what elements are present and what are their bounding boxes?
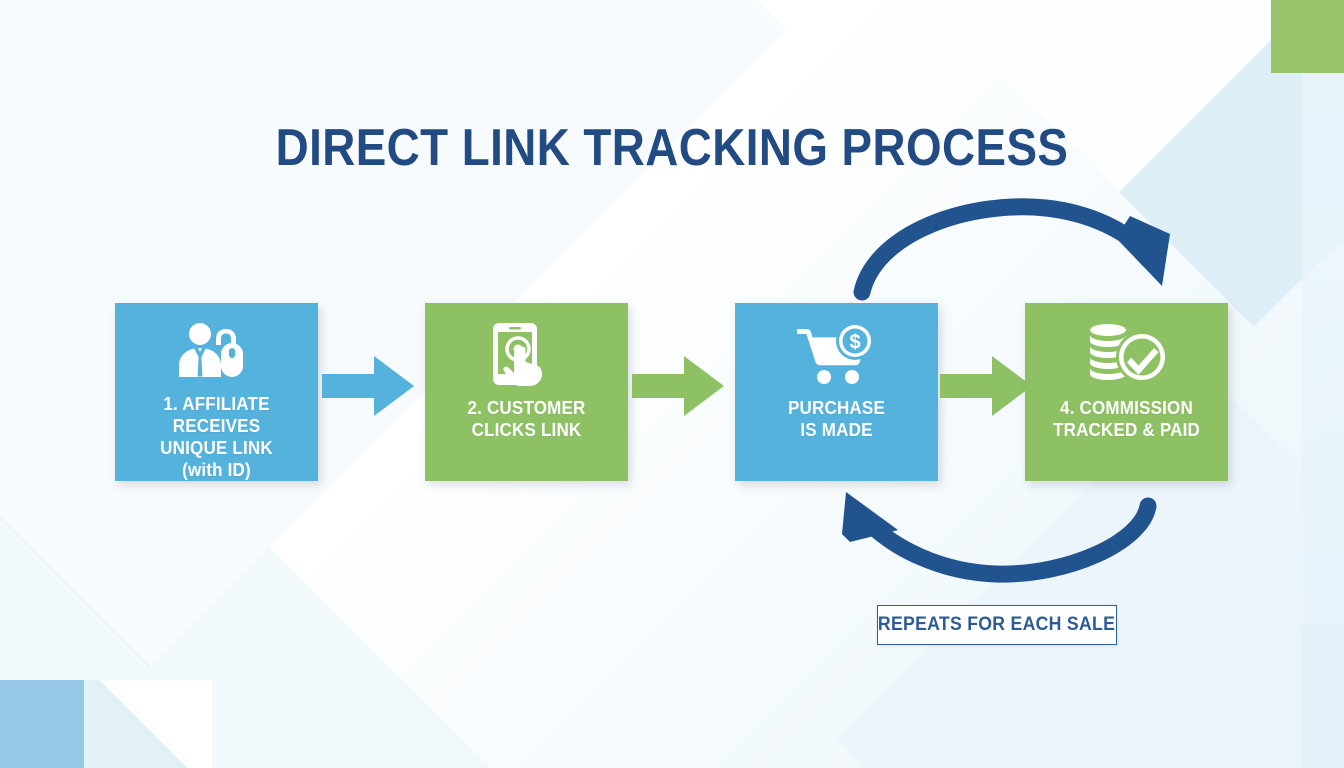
step-box-1[interactable]: 1. AFFILIATE RECEIVES UNIQUE LINK (with … [115,303,318,481]
page-title: DIRECT LINK TRACKING PROCESS [81,118,1264,178]
repeats-badge: REPEATS FOR EACH SALE [877,605,1117,645]
step-label-3: PURCHASE IS MADE [743,397,930,441]
decorative-blue-square [0,680,84,768]
svg-text:$: $ [849,332,860,354]
arrow-3-4 [940,350,1032,422]
decorative-green-square [1271,0,1344,73]
arrow-1-2 [322,350,414,422]
loop-arrow-top [840,198,1190,310]
decorative-right-band [1302,0,1344,768]
repeats-badge-label: REPEATS FOR EACH SALE [878,614,1115,636]
arrow-2-3 [632,350,724,422]
step-box-3[interactable]: $ PURCHASE IS MADE [735,303,938,481]
decorative-wedge-bottom-left [84,680,212,768]
diagram-canvas: DIRECT LINK TRACKING PROCESS 1. AFFILIAT… [0,0,1344,768]
affiliate-person-mouse-icon [174,321,260,383]
step-box-2[interactable]: 2. CUSTOMER CLICKS LINK [425,303,628,481]
shopping-cart-dollar-icon: $ [795,321,879,387]
step-label-2: 2. CUSTOMER CLICKS LINK [433,397,620,441]
step-label-1: 1. AFFILIATE RECEIVES UNIQUE LINK (with … [123,393,310,481]
loop-arrow-bottom [820,478,1170,590]
step-box-4[interactable]: 4. COMMISSION TRACKED & PAID [1025,303,1228,481]
coins-checkmark-icon [1084,321,1170,387]
smartphone-tap-hand-icon [487,321,567,387]
step-label-4: 4. COMMISSION TRACKED & PAID [1033,397,1220,441]
